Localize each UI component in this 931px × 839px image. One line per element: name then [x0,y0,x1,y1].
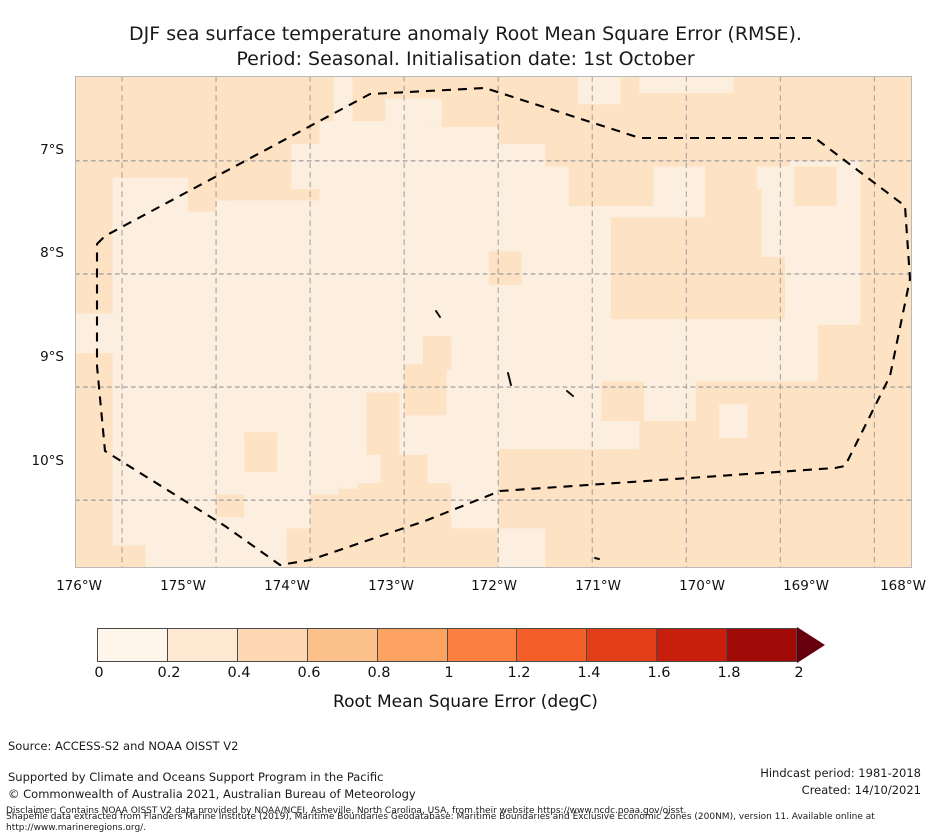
colorbar-segment [727,629,796,661]
ytick-label: 10°S [18,453,64,469]
footer-hindcast-period: Hindcast period: 1981-2018 [760,765,921,782]
footer-shapefile-attribution: Shapefile data extracted from Flanders M… [6,812,875,834]
colorbar-tick-label: 0 [94,665,103,681]
ytick-label: 9°S [24,349,64,365]
xtick-label: 175°W [160,578,206,594]
xtick-label: 173°W [368,578,414,594]
colorbar-segment [98,629,168,661]
colorbar-tick-label: 1.2 [507,665,530,681]
xtick-label: 172°W [471,578,517,594]
xtick-label: 176°W [56,578,102,594]
colorbar-axis-label: Root Mean Square Error (degC) [0,692,931,712]
xtick-label: 171°W [575,578,621,594]
footer-right-block: Hindcast period: 1981-2018 Created: 14/1… [760,765,921,799]
title-line-2: Period: Seasonal. Initialisation date: 1… [0,47,931,72]
ytick-label: 8°S [24,245,64,261]
atoll-coastlines [436,311,599,559]
xtick-label: 168°W [880,578,926,594]
colorbar-tick-label: 1 [444,665,453,681]
xtick-label: 170°W [679,578,725,594]
colorbar-segment [238,629,308,661]
xtick-label: 169°W [783,578,829,594]
footer-shapefile-line-1: Shapefile data extracted from Flanders M… [6,812,875,823]
colorbar-segment [587,629,657,661]
map-canvas [75,76,912,568]
map-plot-area[interactable] [75,76,912,568]
xtick-label: 174°W [264,578,310,594]
page-title: DJF sea surface temperature anomaly Root… [0,22,931,72]
eez-boundary-polygon [97,88,910,565]
footer-source: Source: ACCESS-S2 and NOAA OISST V2 [8,739,238,753]
footer-copyright: © Commonwealth of Australia 2021, Austra… [8,786,416,803]
colorbar-tick-label: 1.6 [647,665,670,681]
colorbar-segment [378,629,448,661]
colorbar-segment [657,629,727,661]
colorbar-segment [308,629,378,661]
colorbar-tick-label: 2 [794,665,803,681]
colorbar-tick-label: 0.2 [157,665,180,681]
colorbar-segment [168,629,238,661]
colorbar-gradient[interactable] [97,628,797,662]
footer-created-date: Created: 14/10/2021 [760,782,921,799]
footer-support-block: Supported by Climate and Oceans Support … [8,769,416,803]
colorbar-tick-label: 0.4 [227,665,250,681]
colorbar-tick-label: 1.4 [577,665,600,681]
colorbar-tick-label: 0.6 [297,665,320,681]
colorbar-segment [448,629,518,661]
eez-boundary-layer [75,76,912,568]
colorbar-tick-label: 0.8 [367,665,390,681]
colorbar-tick-label: 1.8 [717,665,740,681]
footer-shapefile-line-2: http://www.marineregions.org/. [6,823,875,834]
ytick-label: 7°S [24,142,64,158]
title-line-1: DJF sea surface temperature anomaly Root… [0,22,931,47]
colorbar-extend-arrow [797,627,825,663]
footer-support-line: Supported by Climate and Oceans Support … [8,769,416,786]
colorbar-segment [517,629,587,661]
